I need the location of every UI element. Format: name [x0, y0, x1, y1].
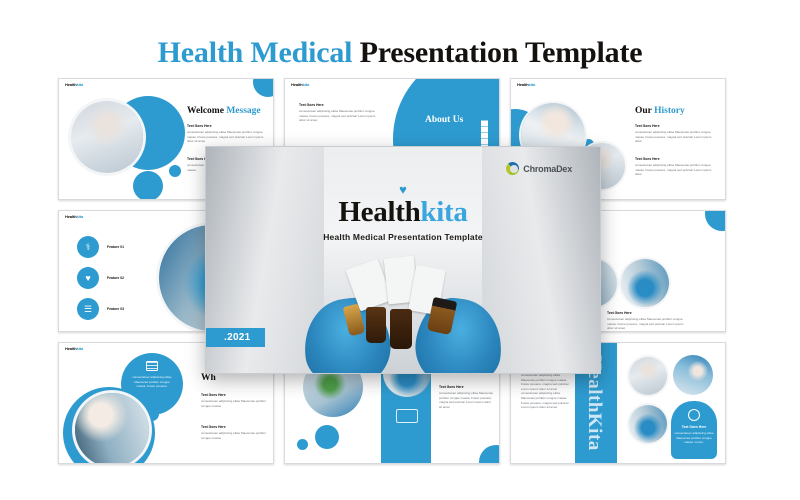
gear-icon	[688, 409, 700, 421]
hero-medicine-bottle	[366, 307, 386, 343]
decor-circle-small	[133, 171, 163, 200]
slide-text-block: Text Goes Here consectetuer adipiscing e…	[201, 393, 267, 408]
slide-heading: Wh	[201, 373, 216, 383]
clipboard-icon: ☰	[84, 304, 92, 315]
feature-label-1: Feature 01	[107, 245, 124, 249]
slide-photo	[629, 357, 667, 395]
bed-icon	[396, 409, 418, 423]
chromadex-mark-icon	[506, 162, 519, 175]
slide-photo	[673, 355, 713, 395]
hero-title-main: Health	[338, 196, 420, 228]
slide-mini-logo: Healthkita	[65, 215, 83, 219]
stethoscope-icon: ⚕	[86, 242, 91, 253]
slide-photo	[621, 259, 669, 307]
hero-medicine-bottle	[390, 309, 412, 349]
bubble-icon-wrap	[146, 361, 158, 371]
feature-label-3: Feature 03	[107, 307, 124, 311]
slide-text-block: Text Goes Here consectetuer adipiscing e…	[635, 157, 715, 177]
heart-icon: ♥	[206, 183, 600, 196]
chromadex-logo: ChromaDex	[506, 162, 572, 175]
feature-icon-1[interactable]: ⚕	[77, 236, 99, 258]
bubble-text: consectetuer adipiscing elitse Maecenas …	[131, 375, 173, 389]
slide-mini-logo: Healthkita	[291, 83, 309, 87]
slide-photo	[629, 405, 667, 443]
featured-slide-healthkita-cover[interactable]: ChromaDex ♥ Healthkita Health Medical Pr…	[205, 146, 601, 374]
feature-icon-3[interactable]: ☰	[77, 298, 99, 320]
hero-title: Healthkita	[206, 197, 600, 227]
year-badge: .2021	[206, 328, 265, 347]
decor-circle-corner	[705, 210, 726, 231]
slide-mini-logo: Healthkita	[517, 83, 535, 87]
slide-text-block: Text Goes Here consectetuer adipiscing e…	[201, 425, 267, 440]
decor-ring	[253, 78, 274, 97]
decor-circle-corner	[479, 445, 500, 464]
hero-title-accent: kita	[420, 196, 467, 228]
slide-photo	[75, 393, 149, 464]
hero-subtitle: Health Medical Presentation Template	[206, 232, 600, 242]
slide-text-block: Text Goes Here consectetuer adipiscing e…	[299, 103, 377, 123]
feature-label-2: Feature 02	[107, 276, 124, 280]
slide-text-block: Text Goes Here consectetuer adipiscing e…	[439, 385, 493, 410]
slide-mini-logo: Healthkita	[65, 347, 83, 351]
page-title-rest: Presentation Template	[352, 36, 642, 69]
decor-circle-tiny	[297, 439, 308, 450]
monitor-icon	[147, 362, 157, 370]
panel-text: Text Goes Here consectetuer adipiscing e…	[674, 425, 714, 445]
decor-circle-tiny	[169, 165, 181, 177]
slide-heading: Our History	[635, 106, 685, 116]
slide-mini-logo: Healthkita	[65, 83, 83, 87]
page-title: Health Medical Presentation Template	[0, 36, 800, 70]
hero-branding: ♥ Healthkita Health Medical Presentation…	[206, 183, 600, 242]
slide-text-block: Text Goes Here consectetuer adipiscing e…	[635, 124, 715, 144]
slide-heading: Welcome Message	[187, 106, 261, 116]
slide-photo	[71, 101, 143, 173]
page-title-accent: Health Medical	[158, 36, 353, 69]
slide-text-block: Text Goes Here consectetuer adipiscing e…	[187, 124, 265, 144]
slide-text-block: Text Goes Here consectetuer adipiscing e…	[607, 311, 687, 331]
heart-icon: ♥	[85, 273, 90, 283]
slide-heading: About Us	[425, 115, 463, 125]
chromadex-wordmark: ChromaDex	[523, 164, 572, 174]
decor-circle-mid	[315, 425, 339, 449]
feature-icon-2[interactable]: ♥	[77, 267, 99, 289]
